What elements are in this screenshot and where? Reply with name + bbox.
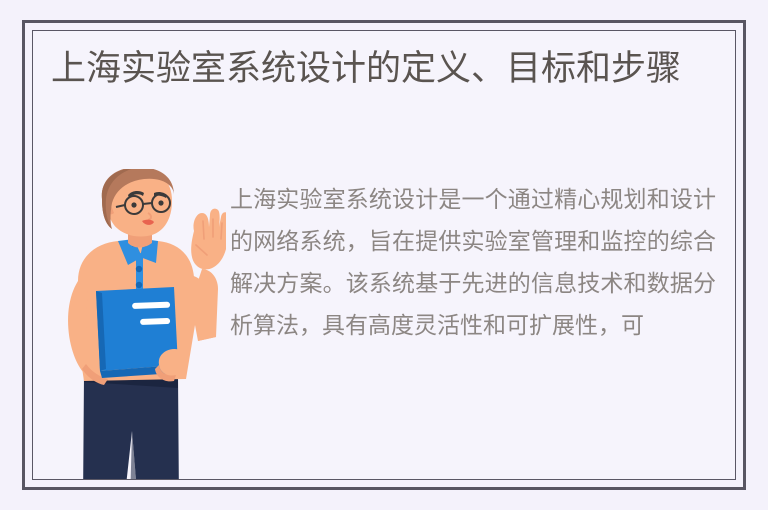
trousers-shape	[83, 375, 179, 480]
article-card-inner-frame: 上海实验室系统设计的定义、目标和步骤	[32, 30, 736, 480]
waving-hand-shape	[191, 209, 226, 270]
head-shape	[102, 169, 174, 248]
page-title: 上海实验室系统设计的定义、目标和步骤	[51, 45, 723, 93]
article-body: 上海实验室系统设计是一个通过精心规划和设计的网络系统，旨在提供实验室管理和监控的…	[230, 179, 716, 347]
article-card: 上海实验室系统设计的定义、目标和步骤	[22, 20, 746, 490]
article-content: 上海实验室系统设计是一个通过精心规划和设计的网络系统，旨在提供实验室管理和监控的…	[33, 151, 735, 479]
waving-student-illustration	[66, 169, 226, 480]
